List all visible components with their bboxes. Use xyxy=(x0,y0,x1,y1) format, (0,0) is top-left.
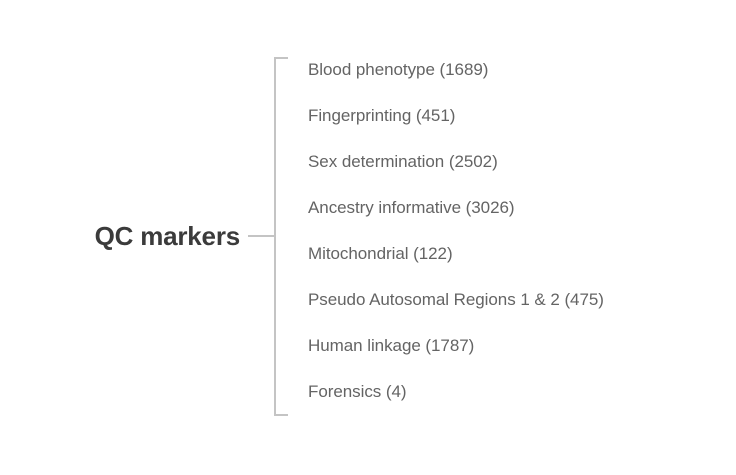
leaf-node-forensics: Forensics (4) xyxy=(308,377,708,423)
bracket-bottom-tick xyxy=(274,414,288,416)
bracket-top-tick xyxy=(274,57,288,59)
leaf-node-pseudo-autosomal-regions: Pseudo Autosomal Regions 1 & 2 (475) xyxy=(308,285,708,331)
leaf-node-mitochondrial: Mitochondrial (122) xyxy=(308,239,708,285)
leaf-node-human-linkage: Human linkage (1787) xyxy=(308,331,708,377)
root-node-label: QC markers xyxy=(0,219,240,253)
leaf-node-list: Blood phenotype (1689) Fingerprinting (4… xyxy=(308,55,708,423)
leaf-node-ancestry-informative: Ancestry informative (3026) xyxy=(308,193,708,239)
leaf-node-blood-phenotype: Blood phenotype (1689) xyxy=(308,55,708,101)
leaf-node-sex-determination: Sex determination (2502) xyxy=(308,147,708,193)
bracket-vertical-line xyxy=(274,57,276,416)
root-to-bracket-connector-line xyxy=(248,235,276,237)
qc-markers-bracket-diagram: QC markers Blood phenotype (1689) Finger… xyxy=(0,0,736,475)
leaf-node-fingerprinting: Fingerprinting (451) xyxy=(308,101,708,147)
